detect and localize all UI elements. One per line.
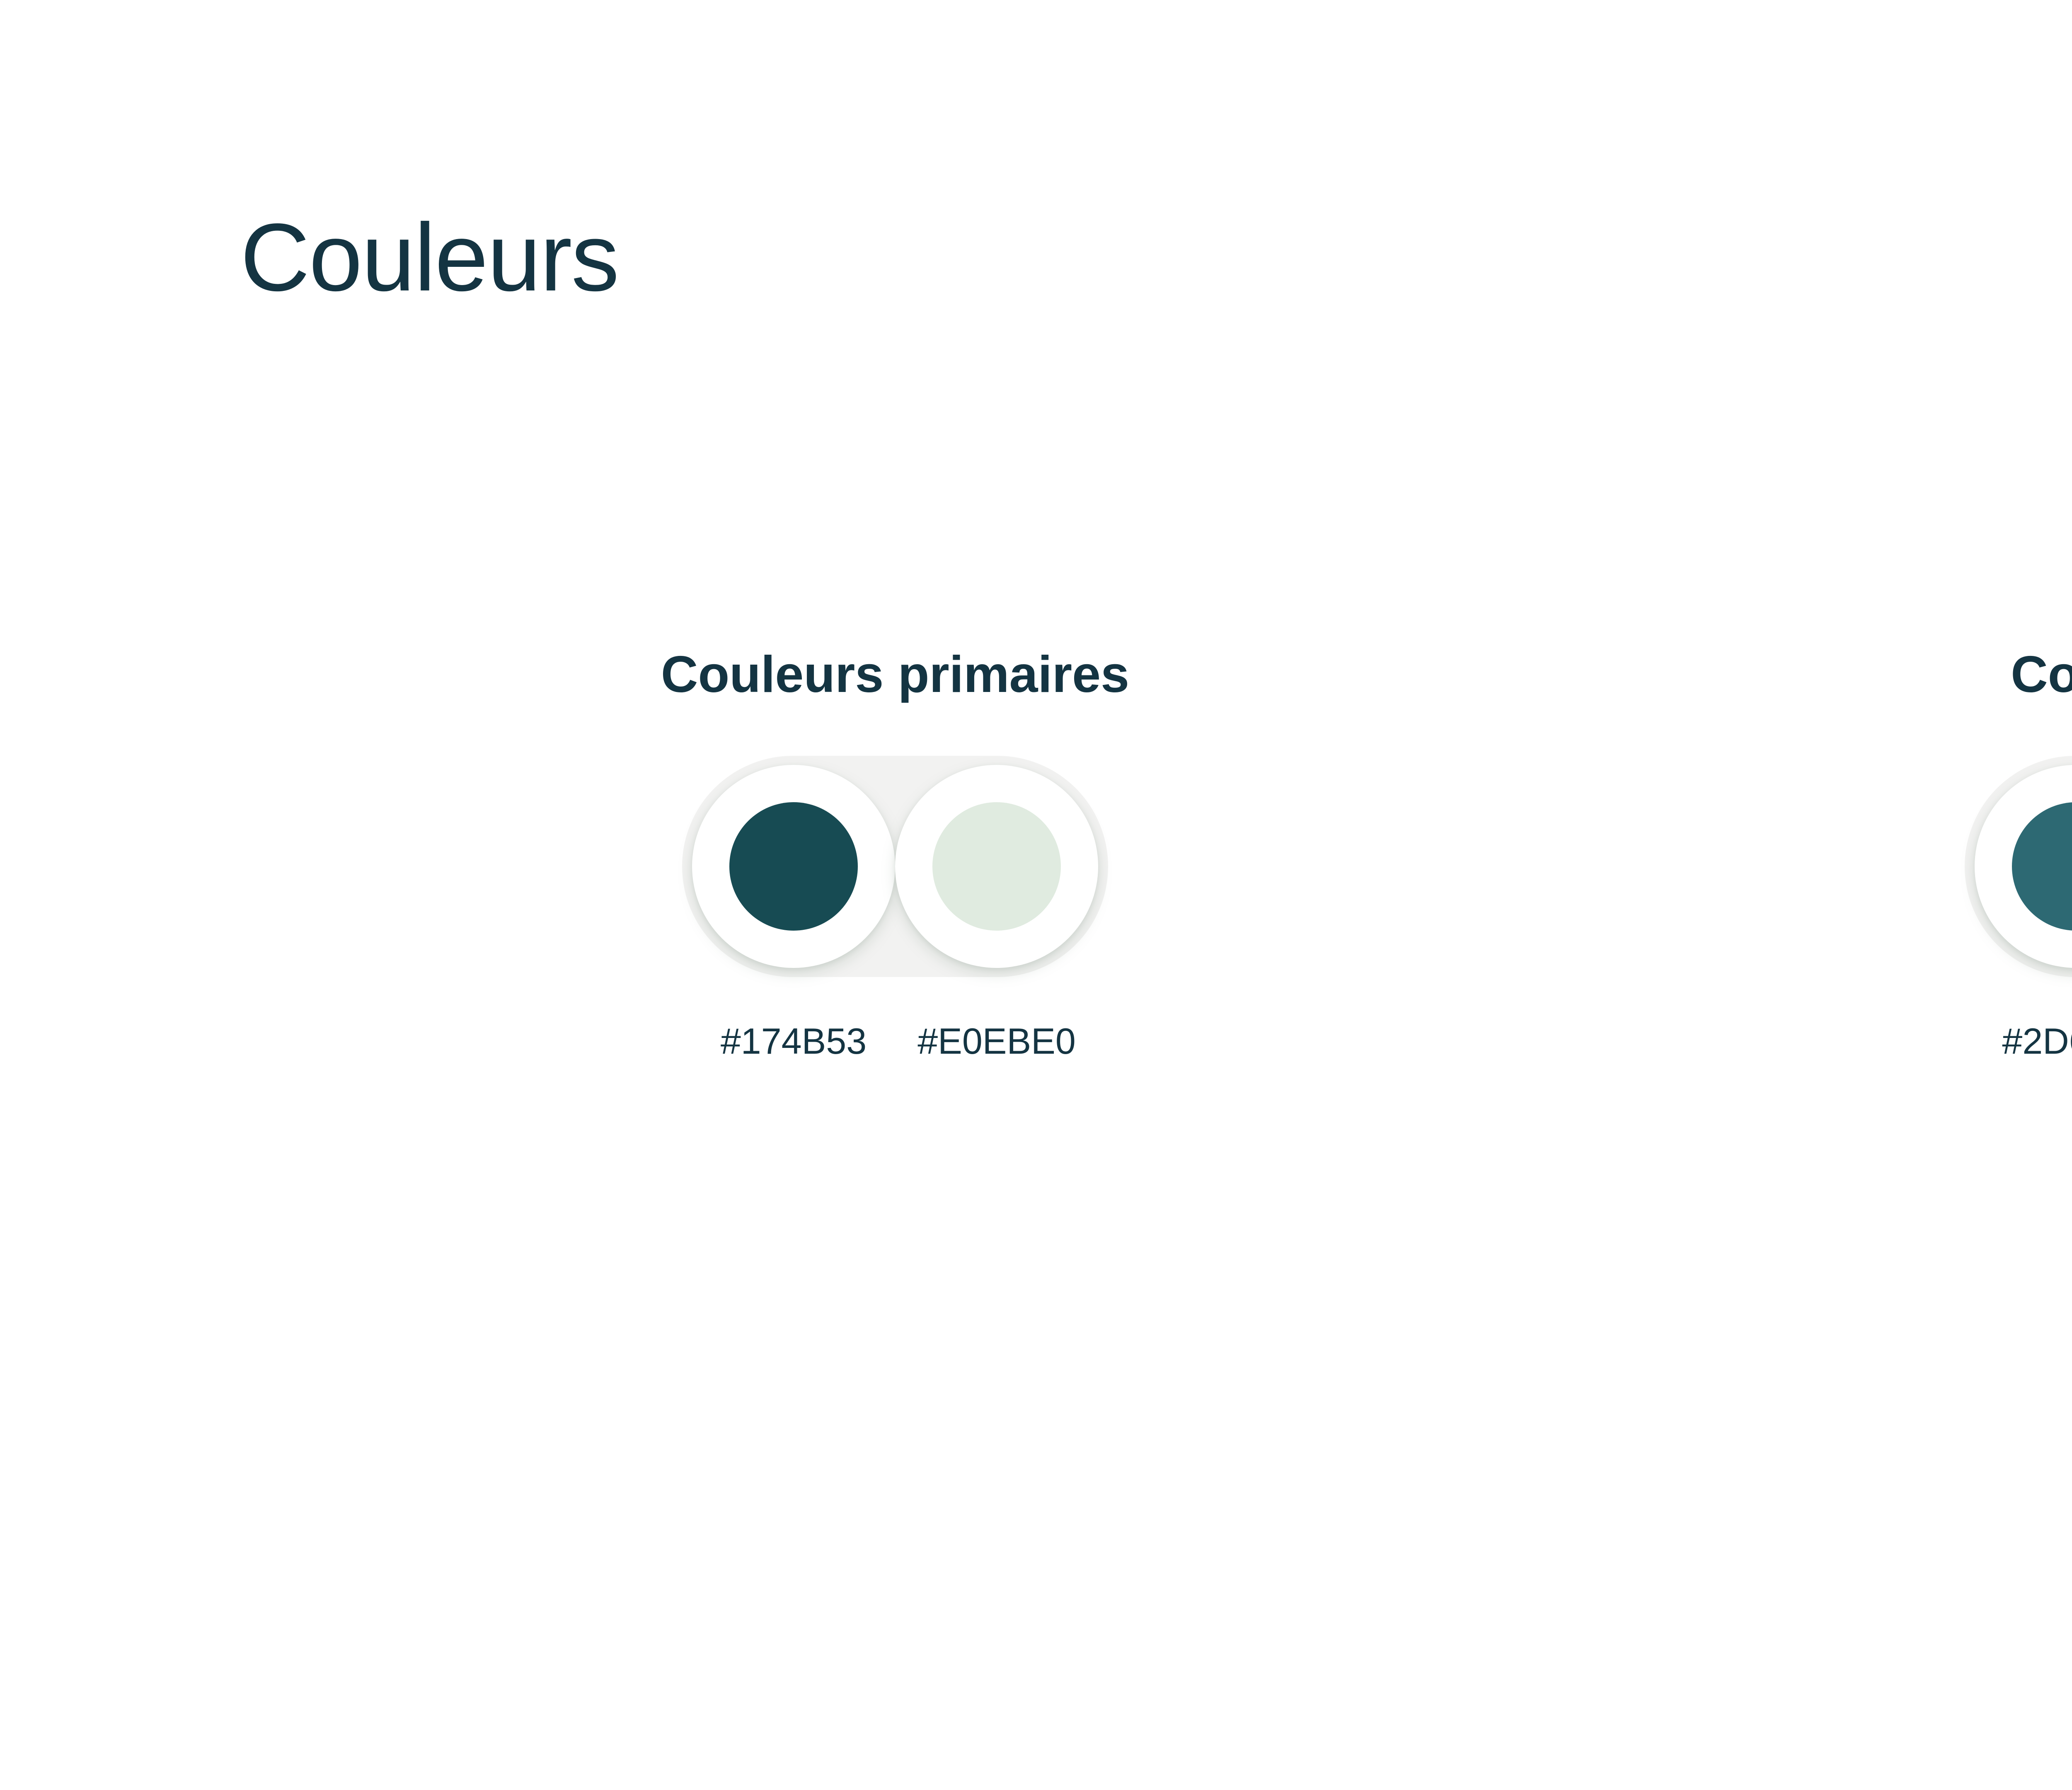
swatch-pill-secondary (1965, 756, 2072, 977)
swatch-hex-label: #E0EBE0 (895, 1020, 1098, 1062)
color-disc[interactable] (932, 802, 1061, 931)
color-group-primary: Couleurs primaires #174B53 #E0EBE0 (207, 646, 1583, 1062)
swatch-label-cell: #E0EBE0 (895, 977, 1098, 1062)
swatch-label-row-secondary: #2D6973 #80B0B2 #EFF5EF (1965, 977, 2072, 1062)
swatch-hex-label: #174B53 (692, 1020, 895, 1062)
group-title-primary: Couleurs primaires (661, 646, 1129, 703)
swatch-pill-primary (682, 756, 1108, 977)
swatch-cell[interactable] (1975, 765, 2072, 968)
swatch-label-cell: #174B53 (692, 977, 895, 1062)
swatch-cell[interactable] (692, 765, 895, 968)
color-group-secondary: Couleurs secondaires #2D6973 (1583, 646, 2072, 1062)
swatch-ring (895, 765, 1098, 968)
color-palette-groups: Couleurs primaires #174B53 #E0EBE0 (0, 646, 2072, 1062)
swatch-label-cell: #2D6973 (1975, 977, 2072, 1062)
page-title: Couleurs (240, 207, 618, 308)
swatch-cell[interactable] (895, 765, 1098, 968)
group-title-secondary: Couleurs secondaires (2011, 646, 2072, 703)
swatch-label-row-primary: #174B53 #E0EBE0 (682, 977, 1108, 1062)
swatch-hex-label: #2D6973 (1975, 1020, 2072, 1062)
color-disc[interactable] (729, 802, 858, 931)
color-disc[interactable] (2012, 802, 2072, 931)
swatch-ring (692, 765, 895, 968)
swatch-ring (1975, 765, 2072, 968)
